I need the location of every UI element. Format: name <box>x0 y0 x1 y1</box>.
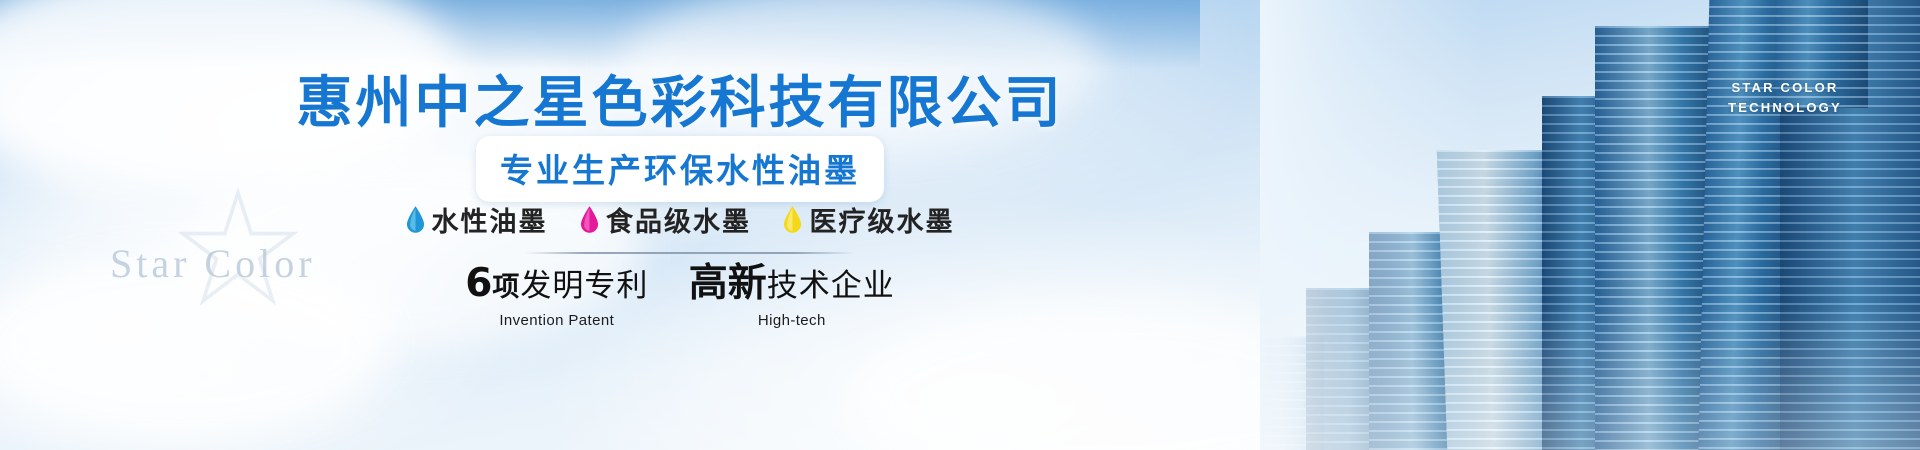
water-drop-icon <box>406 206 425 233</box>
water-drop-icon <box>783 206 802 233</box>
feature-label: 食品级水墨 <box>606 200 751 239</box>
subtitle-pill-container: 专业生产环保水性油墨 <box>0 136 1360 202</box>
feature-label: 医疗级水墨 <box>809 200 954 239</box>
badge-number: 6 <box>465 261 492 306</box>
feature-label: 水性油墨 <box>432 200 548 239</box>
badge-invention-patent: 6项发明专利 Invention Patent <box>465 262 648 329</box>
section-divider <box>525 252 855 254</box>
badge-headline: 高新技术企业 <box>689 268 895 304</box>
badge-caption-en: Invention Patent <box>465 312 648 329</box>
badge-headline: 6项发明专利 <box>465 268 648 304</box>
credential-badges: 6项发明专利 Invention Patent 高新技术企业 High-tech <box>0 262 1360 329</box>
badge-caption-en: High-tech <box>689 312 895 329</box>
badge-tail: 技术企业 <box>767 268 895 304</box>
feature-item-medical-grade: 医疗级水墨 <box>783 200 954 239</box>
corner-mark-line-2: TECHNOLOGY <box>1710 98 1860 118</box>
badge-unit: 项 <box>492 272 520 303</box>
feature-item-food-grade: 食品级水墨 <box>580 200 751 239</box>
badge-high-tech: 高新技术企业 High-tech <box>689 262 895 329</box>
company-title: 惠州中之星色彩科技有限公司 <box>0 58 1360 139</box>
badge-tail: 发明专利 <box>520 268 648 304</box>
badge-big-word: 高新 <box>689 261 767 306</box>
corner-brand-mark: STAR COLOR TECHNOLOGY <box>1710 78 1860 118</box>
water-drop-icon <box>580 206 599 233</box>
feature-item-water-ink: 水性油墨 <box>406 200 548 239</box>
banner-content: 惠州中之星色彩科技有限公司 专业生产环保水性油墨 水性油墨 食品级水墨 <box>0 0 1360 450</box>
promo-banner: Star Color STAR COLOR TECHNOLOGY 惠州中之星色彩… <box>0 0 1920 450</box>
feature-list: 水性油墨 食品级水墨 医疗级水墨 <box>0 200 1360 239</box>
corner-mark-line-1: STAR COLOR <box>1710 78 1860 98</box>
subtitle-pill: 专业生产环保水性油墨 <box>476 136 884 202</box>
